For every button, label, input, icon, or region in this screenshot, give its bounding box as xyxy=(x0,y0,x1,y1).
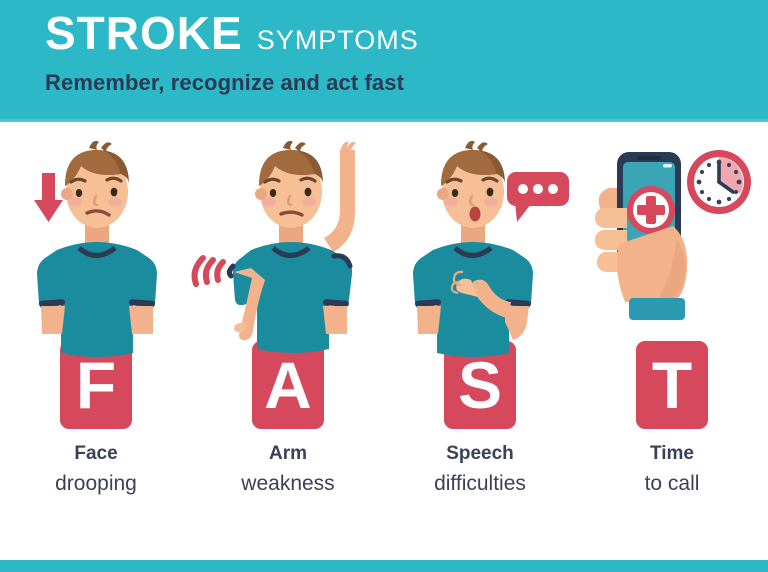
symptom-columns: F Face drooping xyxy=(0,130,768,550)
time-to-call-illustration xyxy=(577,130,767,335)
description-face: drooping xyxy=(55,472,137,496)
description-time: to call xyxy=(645,472,700,496)
stroke-symptoms-infographic: STROKE SYMPTOMS Remember, recognize and … xyxy=(0,0,768,572)
symptom-column-time: T Time to call xyxy=(576,130,768,550)
letter-f: F xyxy=(76,352,116,418)
title-subword: SYMPTOMS xyxy=(257,25,419,56)
caption-time: Time xyxy=(650,443,694,465)
letter-s: S xyxy=(458,352,502,418)
caption-speech: Speech xyxy=(446,443,514,465)
description-speech: difficulties xyxy=(434,472,526,496)
description-arm: weakness xyxy=(241,472,334,496)
header-banner: STROKE SYMPTOMS Remember, recognize and … xyxy=(0,0,768,122)
letter-t: T xyxy=(652,352,692,418)
footer-bar xyxy=(0,560,768,572)
clock-icon xyxy=(687,150,751,214)
speech-difficulty-illustration xyxy=(385,130,575,335)
arm-weakness-illustration xyxy=(193,130,383,335)
motion-arcs-icon xyxy=(195,258,223,284)
symptom-column-speech: S Speech difficulties xyxy=(384,130,576,550)
down-arrow-icon xyxy=(34,173,63,222)
speech-bubble-icon xyxy=(507,172,569,222)
caption-arm: Arm xyxy=(269,443,307,465)
letter-tile-t: T xyxy=(636,341,708,429)
face-drooping-illustration xyxy=(1,130,191,335)
page-title: STROKE SYMPTOMS xyxy=(45,8,419,59)
symptom-column-face: F Face drooping xyxy=(0,130,192,550)
title-main: STROKE xyxy=(45,8,243,59)
letter-a: A xyxy=(264,352,312,418)
letter-tile-a: A xyxy=(252,341,324,429)
symptom-column-arm: A Arm weakness xyxy=(192,130,384,550)
caption-face: Face xyxy=(74,443,117,465)
tagline: Remember, recognize and act fast xyxy=(45,70,404,96)
